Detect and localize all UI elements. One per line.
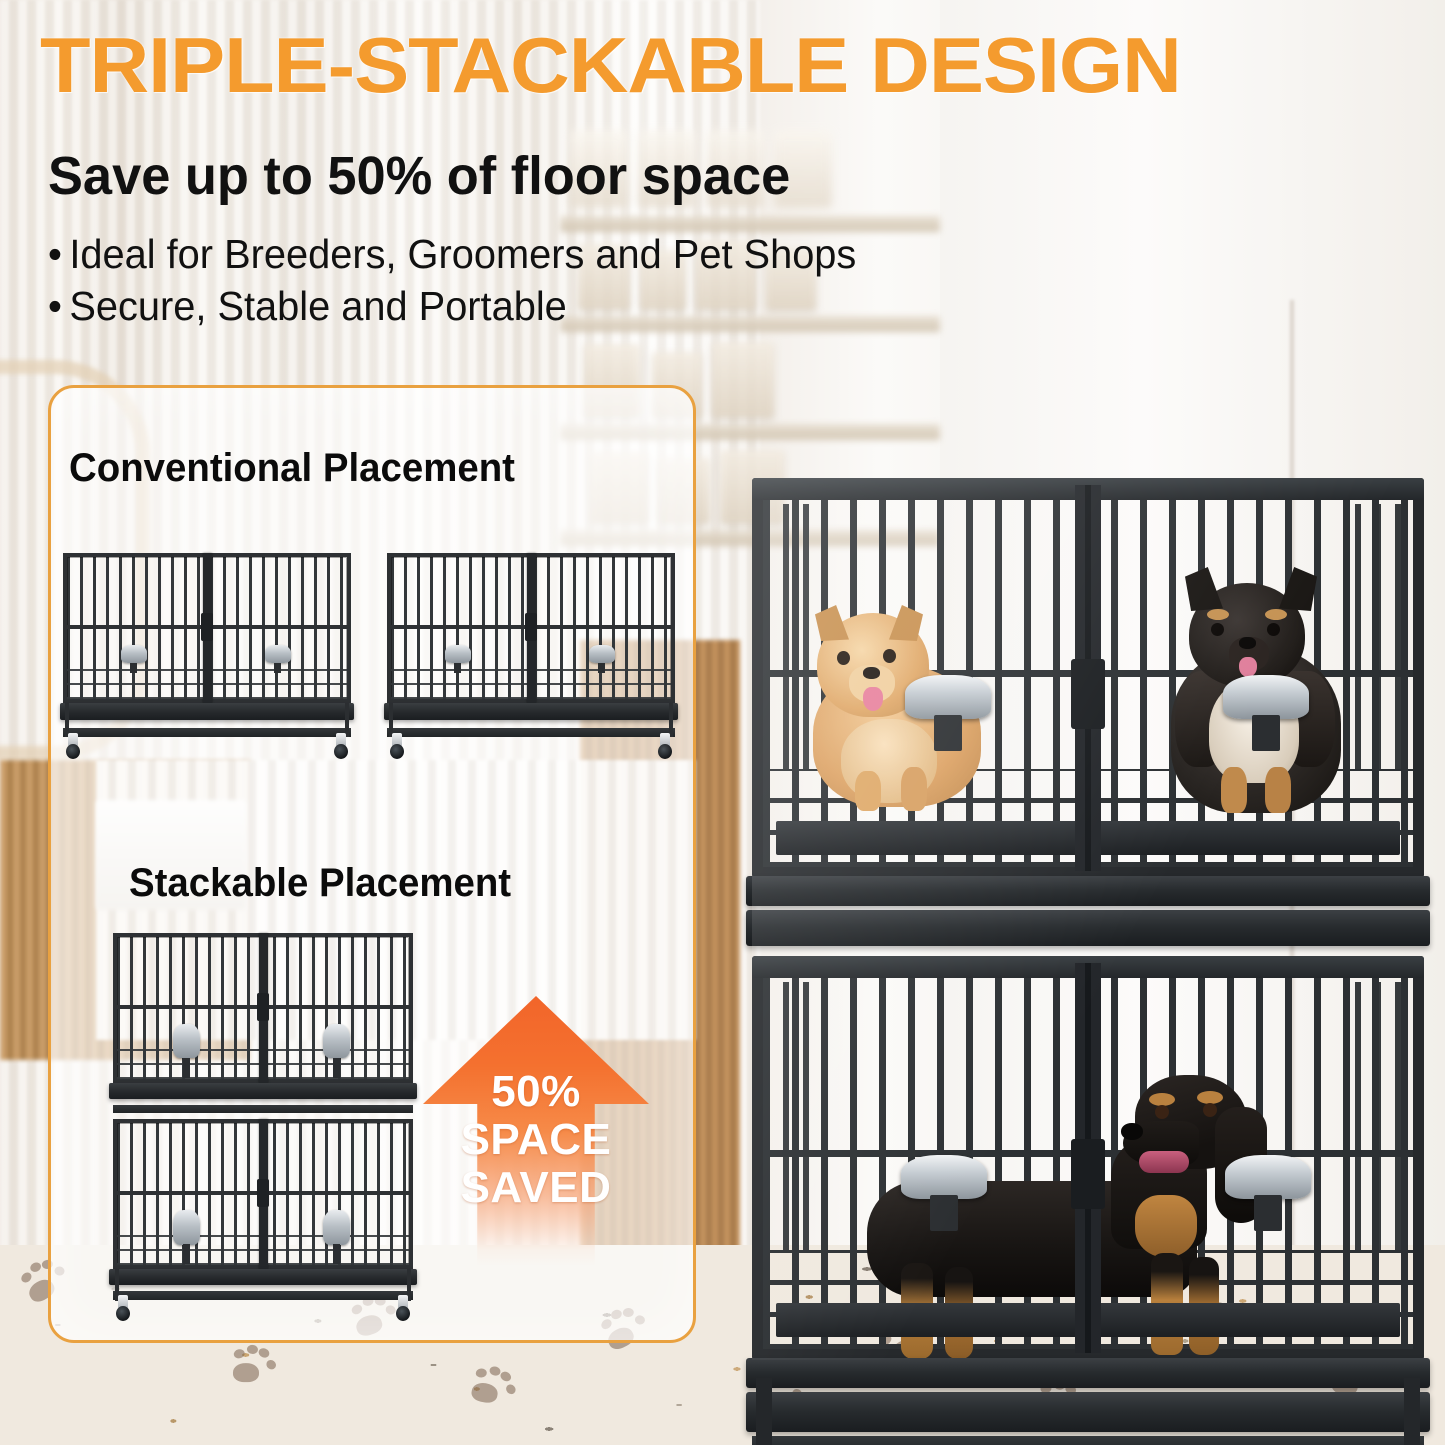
caster-wheel: [657, 733, 673, 759]
conventional-crate-left: [63, 553, 351, 753]
bullet-marker-icon: •: [48, 228, 69, 280]
list-item: •Secure, Stable and Portable: [48, 280, 1134, 332]
crate-latch: [201, 613, 213, 641]
space-saved-arrow-icon: 50% SPACE SAVED: [423, 996, 649, 1266]
list-item: •Ideal for Breeders, Groomers and Pet Sh…: [48, 228, 1134, 280]
crate-leg: [345, 703, 349, 737]
bullet-text: Ideal for Breeders, Groomers and Pet Sho…: [69, 231, 856, 277]
crate-mid-frame: [113, 1105, 413, 1113]
caster-wheel: [115, 1295, 131, 1321]
stackable-placement-label: Stackable Placement: [129, 861, 511, 906]
food-bowl: [323, 1024, 350, 1058]
crate-leg: [65, 703, 69, 737]
crate-base-frame: [752, 1436, 1424, 1445]
crate-side-panel-left: [763, 982, 821, 1249]
food-bowl: [173, 1024, 200, 1058]
food-bowl: [121, 645, 147, 663]
arrow-line-3: SAVED: [423, 1164, 649, 1212]
page-subtitle: Save up to 50% of floor space: [48, 145, 1115, 207]
caster-wheel: [65, 733, 81, 759]
bullet-marker-icon: •: [48, 280, 69, 332]
caster-wheel: [333, 733, 349, 759]
food-bowl: [905, 675, 991, 719]
conventional-placement-label: Conventional Placement: [69, 446, 515, 491]
arrow-line-2: SPACE: [423, 1116, 649, 1164]
crate-leg: [756, 1378, 772, 1445]
page-title: TRIPLE-STACKABLE DESIGN: [40, 24, 1445, 106]
food-bowl: [1223, 675, 1309, 719]
caster-wheel: [389, 733, 405, 759]
food-bowl: [173, 1210, 200, 1244]
upper-tray-frame: [746, 876, 1430, 906]
crate-door-latch: [1071, 1139, 1105, 1209]
hero-crate-tier-upper: [752, 478, 1424, 878]
crate-base-frame: [113, 1291, 413, 1300]
crate-door-latch: [1071, 659, 1105, 729]
removable-tray-lower: [109, 1269, 416, 1285]
lower-tray-frame: [746, 1358, 1430, 1388]
stackable-crate: [113, 933, 413, 1313]
food-bowl: [901, 1155, 987, 1199]
upper-removable-tray: [746, 910, 1430, 946]
crate-base-frame: [387, 728, 675, 737]
background-box: [712, 342, 774, 418]
lower-removable-tray: [746, 1392, 1430, 1432]
crate-latch: [257, 1179, 269, 1207]
hero-crate-tier-lower: [752, 956, 1424, 1360]
comparison-panel: Conventional Placement Stackable Placeme…: [48, 385, 696, 1343]
crate-leg: [1404, 1378, 1420, 1445]
crate-side-panel-right: [1355, 982, 1413, 1249]
hero-product-image: [752, 478, 1424, 1360]
crate-base-frame: [63, 728, 351, 737]
arrow-line-1: 50%: [423, 1068, 649, 1116]
crate-leg: [669, 703, 673, 737]
caster-wheel: [395, 1295, 411, 1321]
arrow-text: 50% SPACE SAVED: [423, 1068, 649, 1212]
removable-tray: [384, 703, 679, 720]
removable-tray-upper: [109, 1083, 416, 1099]
food-bowl: [265, 645, 291, 663]
crate-side-panel-right: [1355, 504, 1413, 769]
food-bowl: [589, 645, 615, 663]
food-bowl: [1225, 1155, 1311, 1199]
food-bowl: [323, 1210, 350, 1244]
conventional-crate-right: [387, 553, 675, 753]
removable-tray: [60, 703, 355, 720]
crate-leg: [389, 703, 393, 737]
bullet-text: Secure, Stable and Portable: [69, 283, 566, 329]
crate-latch: [525, 613, 537, 641]
feature-bullet-list: •Ideal for Breeders, Groomers and Pet Sh…: [48, 228, 1168, 332]
crate-latch: [257, 993, 269, 1021]
food-bowl: [445, 645, 471, 663]
